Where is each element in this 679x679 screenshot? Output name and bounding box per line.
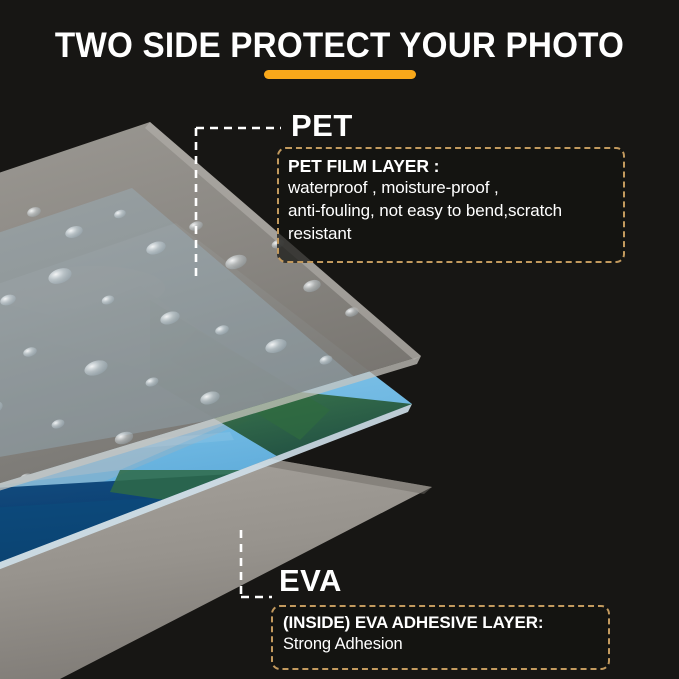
infographic-canvas: TWO SIDE PROTECT YOUR PHOTO PET PET FILM… (0, 0, 679, 679)
pet-body-line-2: anti-fouling, not easy to bend,scratch (288, 200, 614, 223)
title-accent-rule (264, 70, 416, 79)
pet-heading: PET FILM LAYER : (288, 155, 614, 177)
pet-body: waterproof , moisture-proof , anti-fouli… (288, 177, 614, 245)
eva-heading: (INSIDE) EVA ADHESIVE LAYER: (283, 612, 599, 634)
eva-body-line-1: Strong Adhesion (283, 634, 599, 656)
eva-body: Strong Adhesion (283, 634, 599, 656)
pet-description-box: PET FILM LAYER : waterproof , moisture-p… (277, 147, 625, 263)
page-title: TWO SIDE PROTECT YOUR PHOTO (17, 26, 662, 66)
pet-body-line-3: resistant (288, 223, 614, 246)
eva-label: EVA (279, 565, 342, 596)
eva-description-box: (INSIDE) EVA ADHESIVE LAYER: Strong Adhe… (271, 605, 610, 670)
pet-label: PET (291, 110, 353, 141)
pet-body-line-1: waterproof , moisture-proof , (288, 177, 614, 200)
